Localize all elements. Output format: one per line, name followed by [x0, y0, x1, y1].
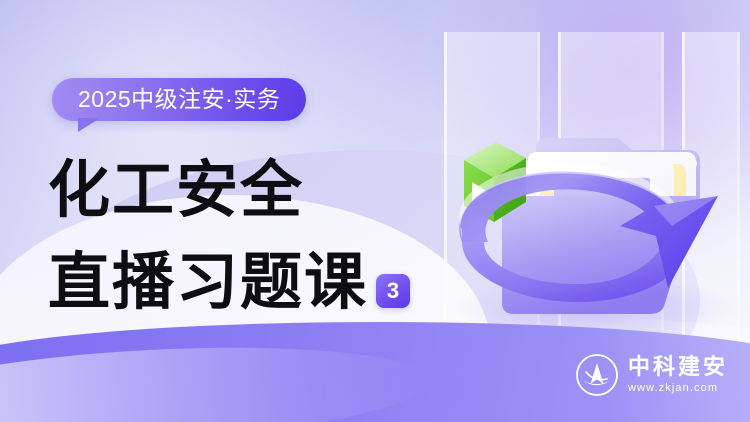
- brand-logo: 中科建安 www.zkjan.com: [576, 354, 728, 396]
- brand-url: www.zkjan.com: [628, 383, 728, 394]
- course-tag: 2025中级注安·实务: [52, 78, 306, 121]
- course-tag-wrapper: 2025中级注安·实务: [52, 78, 306, 121]
- title-line-2-wrapper: 直播习题课 3: [48, 252, 410, 314]
- title-line-1-wrapper: 化工安全: [48, 160, 304, 222]
- brand-text: 中科建安 www.zkjan.com: [628, 356, 728, 394]
- episode-number-badge: 3: [376, 274, 410, 308]
- page-title-line-2: 直播习题课: [48, 252, 368, 314]
- page-title-line-1: 化工安全: [48, 160, 304, 222]
- course-banner: 2025中级注安·实务 化工安全 直播习题课 3 中科建安 www.zkjan.…: [0, 0, 750, 422]
- zkjan-circle-logo-icon: [576, 354, 618, 396]
- brand-name-cn: 中科建安: [628, 356, 728, 378]
- banner-text-block: 2025中级注安·实务 化工安全 直播习题课 3: [0, 0, 470, 422]
